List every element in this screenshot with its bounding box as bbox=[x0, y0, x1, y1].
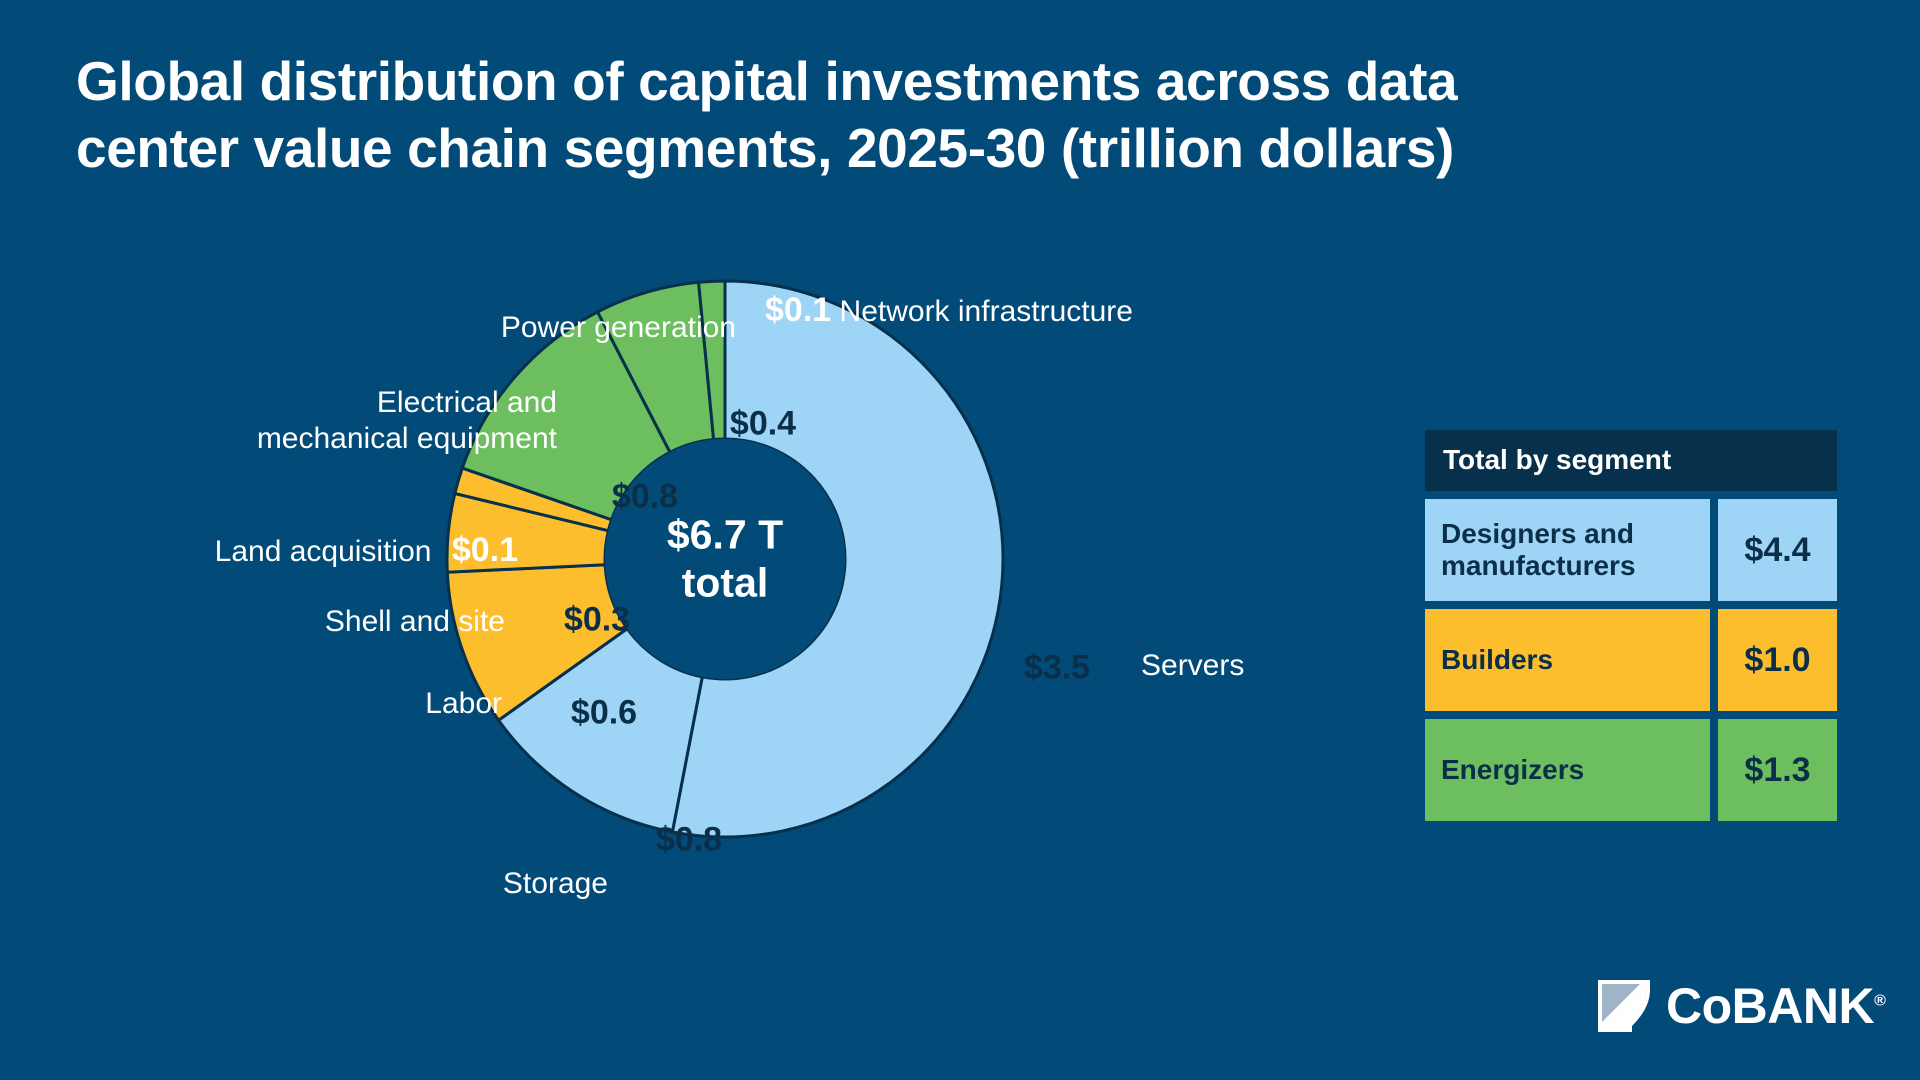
legend-row-energizers[interactable]: Energizers $1.3 bbox=[1425, 719, 1837, 821]
legend-row-builders[interactable]: Builders $1.0 bbox=[1425, 609, 1837, 711]
callout-shell-and-site: Shell and site bbox=[325, 604, 505, 640]
legend-value-designers-and-manufacturers: $4.4 bbox=[1718, 499, 1837, 601]
cobank-logo: CoBANK® bbox=[1596, 978, 1885, 1034]
legend-table: Total by segment Designers and manufactu… bbox=[1425, 430, 1837, 821]
callout-storage: Storage bbox=[503, 866, 608, 902]
legend-value-builders: $1.0 bbox=[1718, 609, 1837, 711]
donut-chart: $6.7 T total bbox=[447, 281, 1003, 837]
callout-network-infrastructure: $0.1 Network infrastructure bbox=[765, 290, 1133, 331]
cobank-logo-text: CoBANK® bbox=[1666, 981, 1885, 1031]
page-title: Global distribution of capital investmen… bbox=[76, 48, 1476, 182]
legend-header: Total by segment bbox=[1425, 430, 1837, 491]
slice-value-servers: $3.5 bbox=[1024, 649, 1090, 688]
callout-servers: Servers bbox=[1141, 648, 1244, 684]
cobank-wordmark: CoBANK bbox=[1666, 978, 1874, 1034]
legend-name-designers-and-manufacturers: Designers and manufacturers bbox=[1425, 499, 1710, 601]
callout-electrical-line1: Electrical and bbox=[257, 385, 557, 421]
callout-electrical-mechanical: Electrical and mechanical equipment bbox=[257, 385, 557, 457]
slice-value-shell-and-site: $0.3 bbox=[564, 601, 630, 640]
slice-value-power-generation: $0.4 bbox=[730, 405, 796, 444]
callout-land-acquisition: Land acquisition $0.1 bbox=[215, 530, 518, 571]
registered-trademark-icon: ® bbox=[1874, 992, 1885, 1009]
infographic-canvas: Global distribution of capital investmen… bbox=[0, 0, 1920, 1080]
slice-value-labor: $0.6 bbox=[571, 694, 637, 733]
donut-chart-svg bbox=[447, 281, 1003, 837]
legend-value-energizers: $1.3 bbox=[1718, 719, 1837, 821]
slice-value-storage: $0.8 bbox=[656, 821, 722, 860]
legend-row-designers-and-manufacturers[interactable]: Designers and manufacturers $4.4 bbox=[1425, 499, 1837, 601]
callout-labor: Labor bbox=[425, 686, 502, 722]
callout-network-infrastructure-value: $0.1 bbox=[765, 291, 831, 329]
legend-name-builders: Builders bbox=[1425, 609, 1710, 711]
callout-land-acquisition-label: Land acquisition bbox=[215, 535, 432, 568]
donut-hub bbox=[605, 439, 845, 679]
callout-electrical-line2: mechanical equipment bbox=[257, 421, 557, 457]
callout-power-generation: Power generation bbox=[501, 310, 736, 346]
callout-network-infrastructure-label: Network infrastructure bbox=[840, 295, 1133, 328]
legend-name-energizers: Energizers bbox=[1425, 719, 1710, 821]
callout-land-acquisition-value: $0.1 bbox=[452, 531, 518, 569]
slice-value-electrical-mechanical: $0.8 bbox=[612, 478, 678, 517]
cobank-logo-mark-icon bbox=[1596, 978, 1652, 1034]
